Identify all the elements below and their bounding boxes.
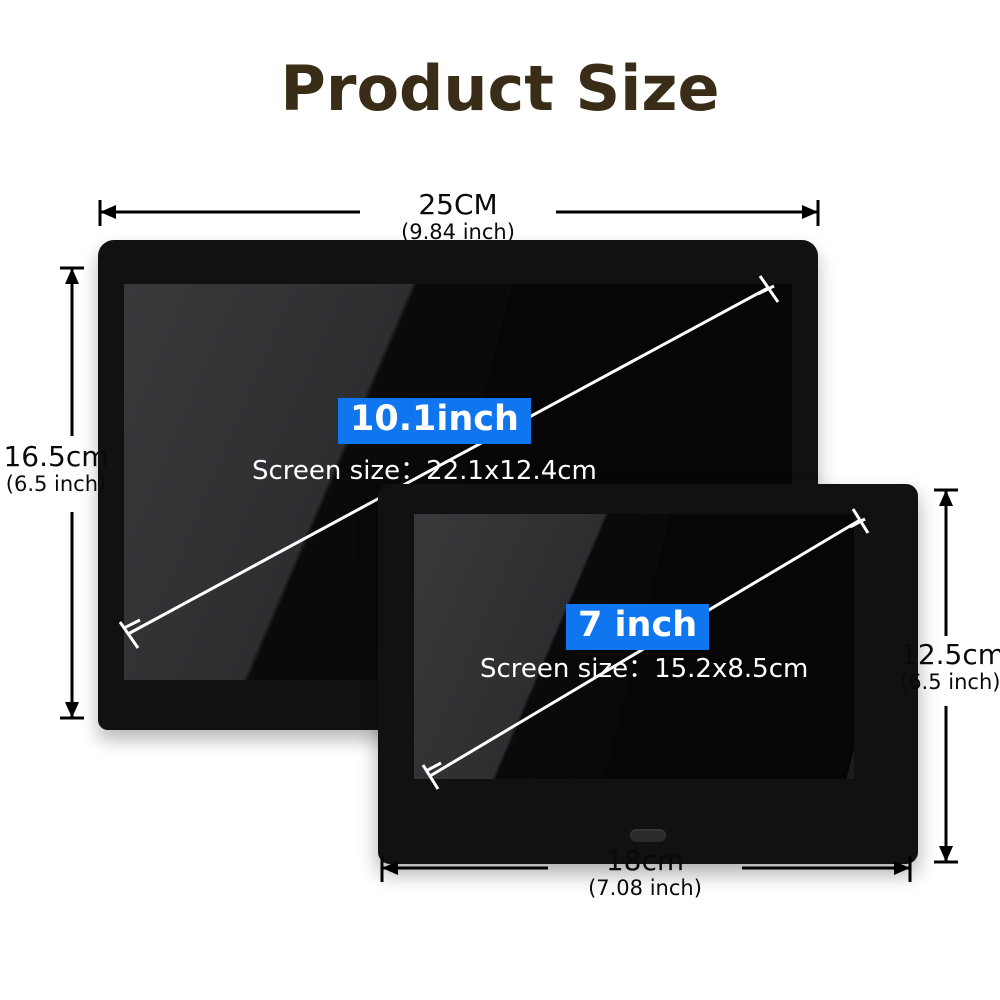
screen-size-caption-large: Screen size：22.1x12.4cm bbox=[252, 450, 597, 487]
dimension-label-small-width-main: 18cm bbox=[545, 846, 745, 876]
dimension-label-small-height-sub: (6.5 inch) bbox=[900, 670, 1000, 695]
product-size-diagram: Product Size 10.1inch Screen size：22.1x1… bbox=[0, 0, 1000, 1000]
dimension-label-small-height: 12.5cm (6.5 inch) bbox=[900, 640, 1000, 695]
dimension-label-large-height: 16.5cm (6.5 inch) bbox=[0, 442, 112, 497]
badge-size-small: 7 inch bbox=[566, 604, 709, 650]
dimension-label-large-width: 25CM (9.84 inch) bbox=[358, 190, 558, 245]
page-title: Product Size bbox=[0, 52, 1000, 125]
dimension-label-large-height-sub: (6.5 inch) bbox=[0, 472, 112, 497]
dimension-label-small-height-main: 12.5cm bbox=[900, 640, 1000, 670]
power-button-icon bbox=[630, 829, 666, 842]
dimension-label-large-width-sub: (9.84 inch) bbox=[358, 220, 558, 245]
dimension-label-small-width-sub: (7.08 inch) bbox=[545, 876, 745, 901]
dimension-label-small-width: 18cm (7.08 inch) bbox=[545, 846, 745, 901]
dimension-label-large-width-main: 25CM bbox=[358, 190, 558, 220]
dimension-label-large-height-main: 16.5cm bbox=[0, 442, 112, 472]
screen-size-caption-small: Screen size：15.2x8.5cm bbox=[480, 648, 808, 685]
badge-size-large: 10.1inch bbox=[338, 398, 531, 444]
